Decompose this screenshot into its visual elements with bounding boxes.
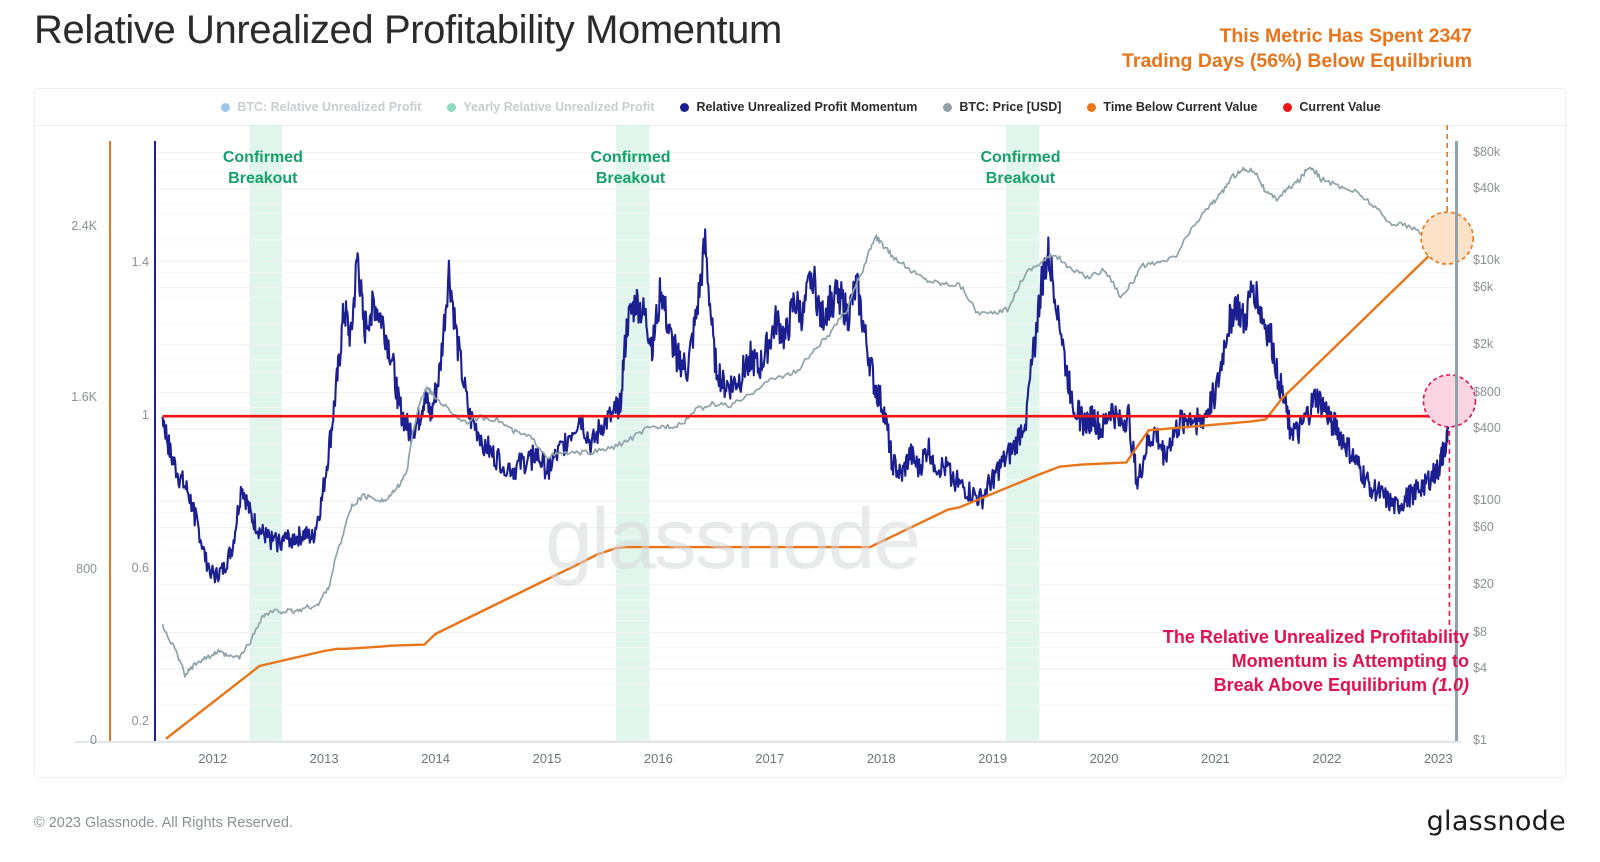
x-axis-tick-2018: 2018 (867, 751, 896, 766)
legend-item-label: BTC: Relative Unrealized Profit (237, 100, 421, 114)
breakout-label-2: ConfirmedBreakout (980, 147, 1060, 189)
x-axis-tick-2017: 2017 (755, 751, 784, 766)
legend-item-label: Yearly Relative Unrealized Profit (463, 100, 654, 114)
breakout-label-1: ConfirmedBreakout (591, 147, 671, 189)
chart-page: Relative Unrealized Profitability Moment… (0, 0, 1600, 862)
series-btc-price (163, 167, 1450, 676)
axis-tick-label: $400 (1473, 421, 1501, 435)
annotation-bottom-right-line1: The Relative Unrealized Profitability (1163, 625, 1469, 649)
axis-tick-label: $8 (1473, 625, 1487, 639)
legend-item-3[interactable]: BTC: Price [USD] (943, 100, 1061, 114)
breakout-label-line2: Breakout (591, 168, 671, 189)
annotation-bottom-right-line3-main: Break Above Equilibrium (1214, 675, 1432, 695)
axis-tick-label: 2.4K (71, 219, 97, 233)
legend-item-4[interactable]: Time Below Current Value (1087, 100, 1257, 114)
legend-item-0[interactable]: BTC: Relative Unrealized Profit (221, 100, 421, 114)
annotation-top-right-line1: This Metric Has Spent 2347 (1122, 24, 1472, 49)
breakout-label-0: ConfirmedBreakout (223, 147, 303, 189)
breakout-band-1 (616, 125, 649, 741)
legend-dot-icon (680, 103, 689, 112)
page-title: Relative Unrealized Profitability Moment… (34, 8, 782, 53)
legend-item-5[interactable]: Current Value (1283, 100, 1380, 114)
legend-dot-icon (943, 103, 952, 112)
legend-item-2[interactable]: Relative Unrealized Profit Momentum (680, 100, 917, 114)
footer-copyright: © 2023 Glassnode. All Rights Reserved. (34, 815, 293, 831)
breakout-label-line1: Confirmed (591, 147, 671, 168)
axis-tick-label: 1.6K (71, 390, 97, 404)
axis-tick-label: $4 (1473, 661, 1487, 675)
breakout-label-line2: Breakout (980, 168, 1060, 189)
navy-axis-spine (154, 141, 156, 741)
axis-tick-label: $100 (1473, 493, 1501, 507)
axis-left-navy: 0.20.611.4 (113, 125, 149, 779)
orange-axis-spine (109, 141, 111, 741)
axis-tick-label: 1.4 (132, 255, 149, 269)
annotation-bottom-right-equilibrium-value: (1.0) (1432, 675, 1469, 695)
chart-card: BTC: Relative Unrealized ProfitYearly Re… (34, 88, 1566, 778)
axis-tick-label: $20 (1473, 577, 1494, 591)
legend-item-label: BTC: Price [USD] (959, 100, 1061, 114)
axis-tick-label: $40k (1473, 181, 1500, 195)
axis-tick-label: $10k (1473, 253, 1500, 267)
breakout-band-0 (249, 125, 281, 741)
legend-item-label: Time Below Current Value (1103, 100, 1257, 114)
x-axis-tick-2012: 2012 (198, 751, 227, 766)
x-axis-spine (75, 741, 1461, 743)
legend-item-label: Relative Unrealized Profit Momentum (696, 100, 917, 114)
annotation-top-right-line2: Trading Days (56%) Below Equilbrium (1122, 49, 1472, 74)
annotation-top-right: This Metric Has Spent 2347 Trading Days … (1122, 24, 1472, 74)
x-axis-tick-2015: 2015 (532, 751, 561, 766)
axis-tick-label: 1 (142, 408, 149, 422)
legend-dot-icon (447, 103, 456, 112)
breakout-label-line1: Confirmed (980, 147, 1060, 168)
axis-tick-label: $800 (1473, 385, 1501, 399)
axis-tick-label: 0.2 (132, 714, 149, 728)
legend-dot-icon (1087, 103, 1096, 112)
axis-tick-label: $1 (1473, 733, 1487, 747)
axis-tick-label: $60 (1473, 520, 1494, 534)
x-axis-tick-2022: 2022 (1312, 751, 1341, 766)
legend-dot-icon (1283, 103, 1292, 112)
x-axis-tick-2016: 2016 (644, 751, 673, 766)
axis-tick-label: $2k (1473, 337, 1493, 351)
x-axis-tick-2019: 2019 (978, 751, 1007, 766)
x-axis-tick-2020: 2020 (1090, 751, 1119, 766)
plot-area: glassnode 08001.6K2.4K 0.20.611.4 $80k$4… (35, 125, 1567, 779)
annotation-bottom-right-line2: Momentum is Attempting to (1163, 649, 1469, 673)
x-axis-tick-2014: 2014 (421, 751, 450, 766)
axis-tick-label: 0 (90, 733, 97, 747)
annotation-bottom-right-line3: Break Above Equilibrium (1.0) (1163, 673, 1469, 697)
axis-right-price: $80k$40k$10k$6k$2k$800$400$100$60$20$8$4… (1461, 125, 1567, 779)
x-axis-tick-2013: 2013 (310, 751, 339, 766)
axis-left-orange: 08001.6K2.4K (35, 125, 97, 779)
legend-item-1[interactable]: Yearly Relative Unrealized Profit (447, 100, 654, 114)
axis-tick-label: $6k (1473, 280, 1493, 294)
axis-tick-label: 0.6 (132, 561, 149, 575)
footer-logo: glassnode (1427, 806, 1566, 837)
axis-tick-label: 800 (76, 562, 97, 576)
legend-dot-icon (221, 103, 230, 112)
chart-legend: BTC: Relative Unrealized ProfitYearly Re… (35, 89, 1567, 126)
axis-tick-label: $80k (1473, 145, 1500, 159)
series-momentum (163, 229, 1450, 582)
legend-item-label: Current Value (1299, 100, 1380, 114)
annotation-bottom-right: The Relative Unrealized Profitability Mo… (1163, 625, 1469, 697)
x-axis-tick-2023: 2023 (1424, 751, 1453, 766)
breakout-label-line1: Confirmed (223, 147, 303, 168)
breakout-label-line2: Breakout (223, 168, 303, 189)
x-axis-tick-2021: 2021 (1201, 751, 1230, 766)
